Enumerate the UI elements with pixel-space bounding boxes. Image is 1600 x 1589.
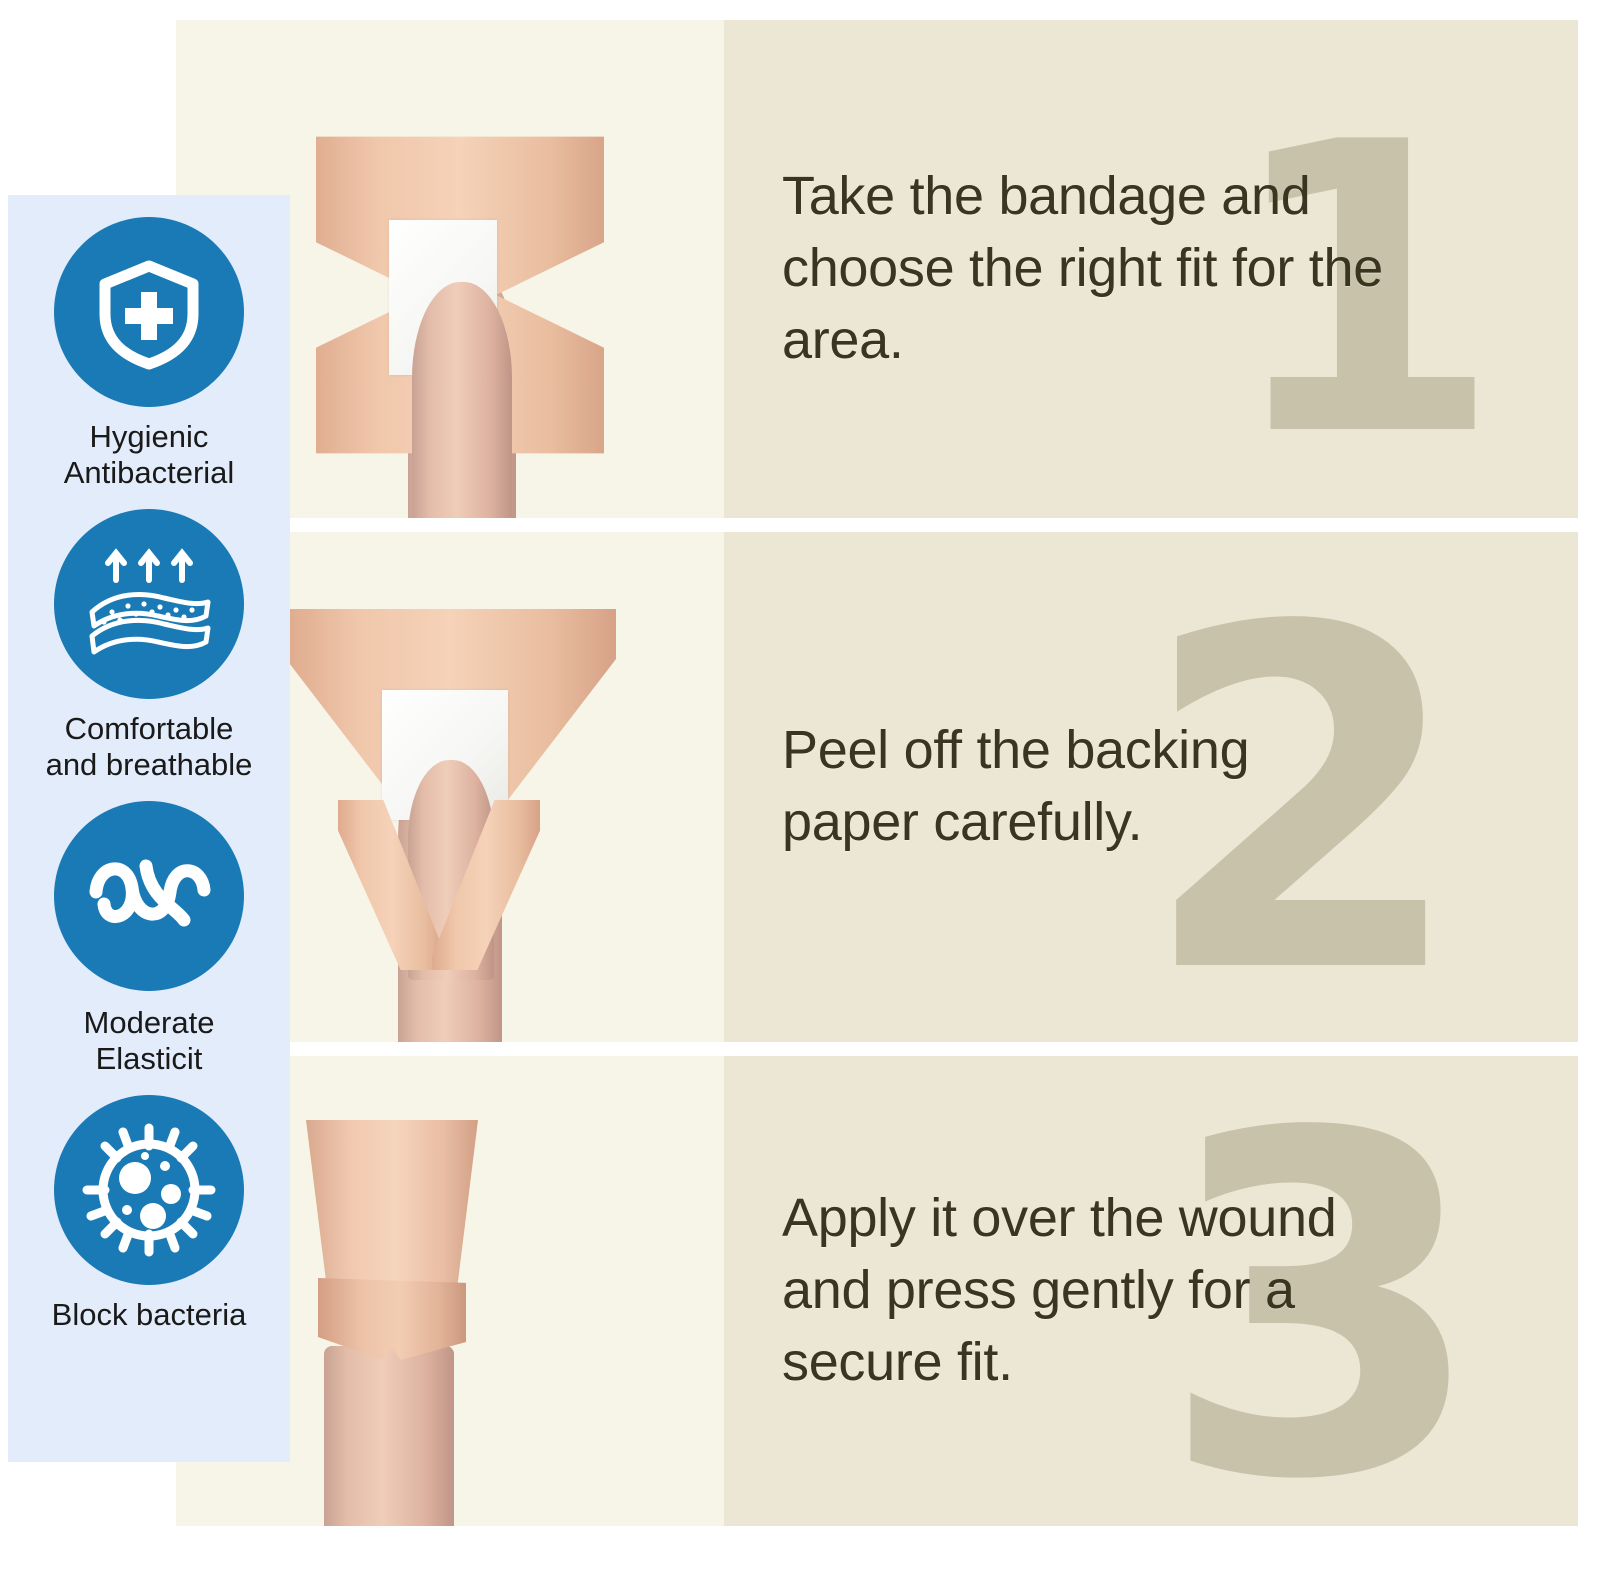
step-1-text-area: 1 Take the bandage and choose the right …: [724, 20, 1578, 518]
feature-item-breathable: Comfortable and breathable: [8, 509, 290, 783]
feature-label-breathable: Comfortable and breathable: [46, 711, 253, 783]
step-3-text-area: 3 Apply it over the wound and press gent…: [724, 1056, 1578, 1526]
finger-shaft-3: [324, 1346, 454, 1526]
step-2-instruction: Peel off the backing paper carefully.: [724, 715, 1414, 859]
bacteria-icon: [54, 1095, 244, 1285]
step-panel-1: 1 Take the bandage and choose the right …: [176, 20, 1578, 518]
applied-bandage-cuff-3: [306, 1120, 478, 1300]
feature-label-hygienic: Hygienic Antibacterial: [64, 419, 235, 491]
step-panel-2: 2 Peel off the backing paper carefully.: [176, 532, 1578, 1042]
step-panel-3: 3 Apply it over the wound and press gent…: [176, 1056, 1578, 1526]
feature-item-block-bacteria: Block bacteria: [8, 1095, 290, 1333]
product-instruction-graphic: 1 Take the bandage and choose the right …: [0, 0, 1600, 1589]
step-3-instruction: Apply it over the wound and press gently…: [724, 1183, 1414, 1398]
feature-label-elasticity: Moderate Elasticit: [84, 1005, 215, 1077]
fingertip-front-1: [412, 282, 512, 518]
breathable-fabric-icon: [54, 509, 244, 699]
feature-sidebar: Hygienic Antibacterial: [8, 195, 290, 1462]
feature-label-block-bacteria: Block bacteria: [52, 1297, 247, 1333]
elastic-wave-icon: [54, 801, 244, 991]
feature-item-elasticity: Moderate Elasticit: [8, 801, 290, 1077]
shield-plus-icon: [54, 217, 244, 407]
step-1-instruction: Take the bandage and choose the right fi…: [724, 161, 1414, 376]
feature-item-hygienic: Hygienic Antibacterial: [8, 217, 290, 491]
step-2-text-area: 2 Peel off the backing paper carefully.: [724, 532, 1578, 1042]
